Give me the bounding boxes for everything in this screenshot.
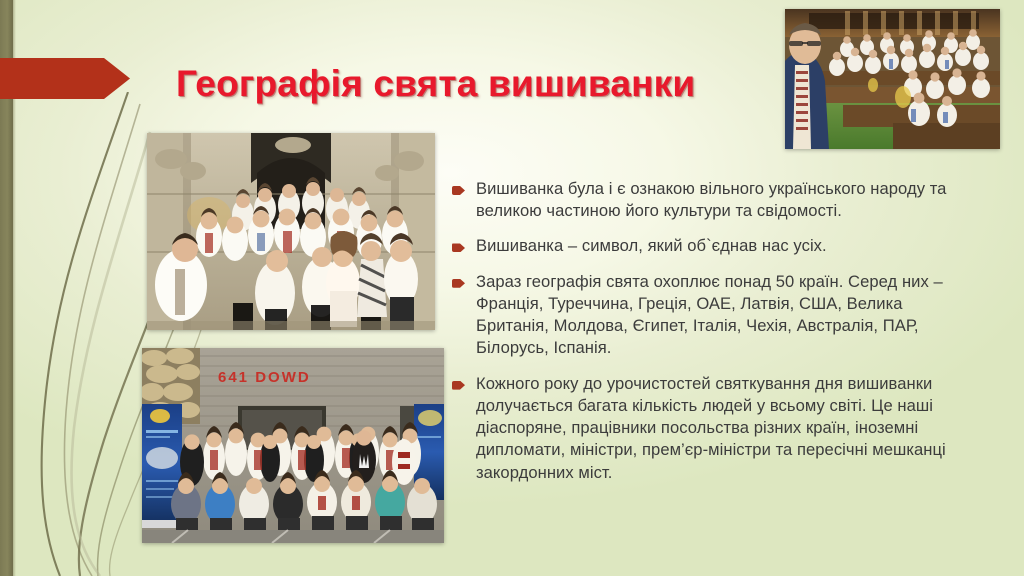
bullet-list: Вишиванка була і є ознакою вільного укра…: [452, 178, 964, 497]
list-item: Кожного року до урочистостей святкування…: [452, 373, 964, 484]
bullet-text: Вишиванка – символ, який об`єднав нас ус…: [476, 235, 964, 257]
bullet-text: Кожного року до урочистостей святкування…: [476, 373, 964, 484]
list-item: Зараз географія свята охоплює понад 50 к…: [452, 271, 964, 360]
list-item: Вишиванка – символ, який об`єднав нас ус…: [452, 235, 964, 257]
list-item: Вишиванка була і є ознакою вільного укра…: [452, 178, 964, 222]
arrow-bullet-icon: [452, 381, 465, 390]
bullet-text: Зараз географія свята охоплює понад 50 к…: [476, 271, 964, 360]
arrow-bullet-icon: [452, 279, 465, 288]
photo-parliament-chamber: [785, 9, 1000, 149]
bullet-text: Вишиванка була і є ознакою вільного укра…: [476, 178, 964, 222]
slide-canvas: Географія свята вишиванки: [0, 0, 1024, 576]
building-sign-text: 641 DOWD: [218, 369, 311, 386]
photo-parliament-illustration: [785, 9, 1000, 149]
photo-group-stone-hall: [147, 133, 435, 330]
photo-stone-hall-illustration: [147, 133, 435, 330]
photo-group-outdoor: 641 DOWD: [142, 348, 444, 543]
page-title: Географія свята вишиванки: [176, 63, 776, 104]
arrow-bullet-icon: [452, 243, 465, 252]
photo-outdoor-illustration: 641 DOWD: [142, 348, 444, 543]
arrow-banner-shape: [0, 58, 130, 99]
arrow-bullet-icon: [452, 186, 465, 195]
